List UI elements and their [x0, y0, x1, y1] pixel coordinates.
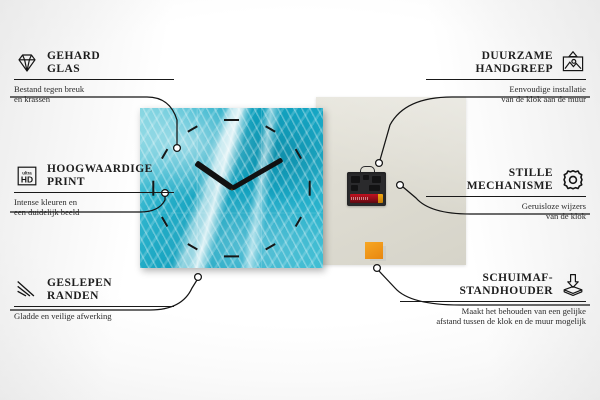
feature-geslepen-randen-rule	[14, 306, 174, 307]
feature-hoogwaardige-print-rule	[14, 192, 174, 193]
feature-gehard-glas-head: GEHARD GLAS	[14, 50, 174, 76]
feature-schuimafstandhouder: SCHUIMAF- STANDHOUDER Maakt het behouden…	[400, 272, 586, 327]
svg-text:HD: HD	[21, 174, 33, 184]
ultra-hd-icon: ultra HD	[14, 164, 40, 188]
feature-schuimafstandhouder-desc-2: afstand tussen de klok en de muur mogeli…	[400, 316, 586, 326]
feature-gehard-glas-desc-2: en krassen	[14, 94, 174, 104]
feature-stille-mechanisme-desc-1: Geruisloze wijzers	[426, 201, 586, 211]
connector-dot-schuimafstandhouder	[374, 265, 381, 272]
picture-frame-icon	[560, 51, 586, 75]
infographic-canvas: GEHARD GLAS Bestand tegen breuk en krass…	[0, 0, 600, 400]
connector-duurzame-handgreep	[380, 97, 590, 160]
feature-hoogwaardige-print-desc-1: Intense kleuren en	[14, 197, 174, 207]
feature-geslepen-randen: GESLEPEN RANDEN Gladde en veilige afwerk…	[14, 277, 174, 321]
feature-stille-mechanisme: STILLE MECHANISME Geruisloze wijzers van…	[426, 167, 586, 222]
connector-dot-duurzame-handgreep	[376, 160, 383, 167]
feature-geslepen-randen-head: GESLEPEN RANDEN	[14, 277, 174, 303]
feature-duurzame-handgreep-desc-1: Eenvoudige installatie	[426, 84, 586, 94]
feature-duurzame-handgreep-rule	[426, 79, 586, 80]
feature-hoogwaardige-print-desc-2: een duidelijk beeld	[14, 207, 174, 217]
feature-hoogwaardige-print-head: ultra HD HOOGWAARDIGE PRINT	[14, 163, 174, 189]
connector-dot-stille-mechanisme	[397, 182, 404, 189]
feature-hoogwaardige-print: ultra HD HOOGWAARDIGE PRINT Intense kleu…	[14, 163, 174, 218]
feature-hoogwaardige-print-title: HOOGWAARDIGE PRINT	[47, 163, 153, 189]
feature-stille-mechanisme-rule	[426, 196, 586, 197]
feature-duurzame-handgreep-title: DUURZAME HANDGREEP	[475, 50, 553, 76]
feature-schuimafstandhouder-desc-1: Maakt het behouden van een gelijke	[400, 306, 586, 316]
feature-schuimafstandhouder-rule	[400, 301, 586, 302]
feature-geslepen-randen-desc-1: Gladde en veilige afwerking	[14, 311, 174, 321]
feature-stille-mechanisme-desc-2: van de klok	[426, 211, 586, 221]
feature-geslepen-randen-title: GESLEPEN RANDEN	[47, 277, 112, 303]
connector-dot-gehard-glas	[174, 145, 181, 152]
feature-stille-mechanisme-title: STILLE MECHANISME	[467, 167, 553, 193]
gear-icon	[560, 168, 586, 192]
beveled-edges-icon	[14, 278, 40, 302]
feature-gehard-glas-desc-1: Bestand tegen breuk	[14, 84, 174, 94]
feature-schuimafstandhouder-title: SCHUIMAF- STANDHOUDER	[459, 272, 553, 298]
connector-dot-geslepen-randen	[195, 274, 202, 281]
feature-gehard-glas-title: GEHARD GLAS	[47, 50, 100, 76]
feature-gehard-glas-rule	[14, 79, 174, 80]
press-down-pad-icon	[560, 273, 586, 297]
feature-duurzame-handgreep-head: DUURZAME HANDGREEP	[426, 50, 586, 76]
feature-duurzame-handgreep-desc-2: van de klok aan de muur	[426, 94, 586, 104]
feature-gehard-glas: GEHARD GLAS Bestand tegen breuk en krass…	[14, 50, 174, 105]
feature-schuimafstandhouder-head: SCHUIMAF- STANDHOUDER	[400, 272, 586, 298]
feature-stille-mechanisme-head: STILLE MECHANISME	[426, 167, 586, 193]
feature-duurzame-handgreep: DUURZAME HANDGREEP Eenvoudige installati…	[426, 50, 586, 105]
diamond-icon	[14, 51, 40, 75]
